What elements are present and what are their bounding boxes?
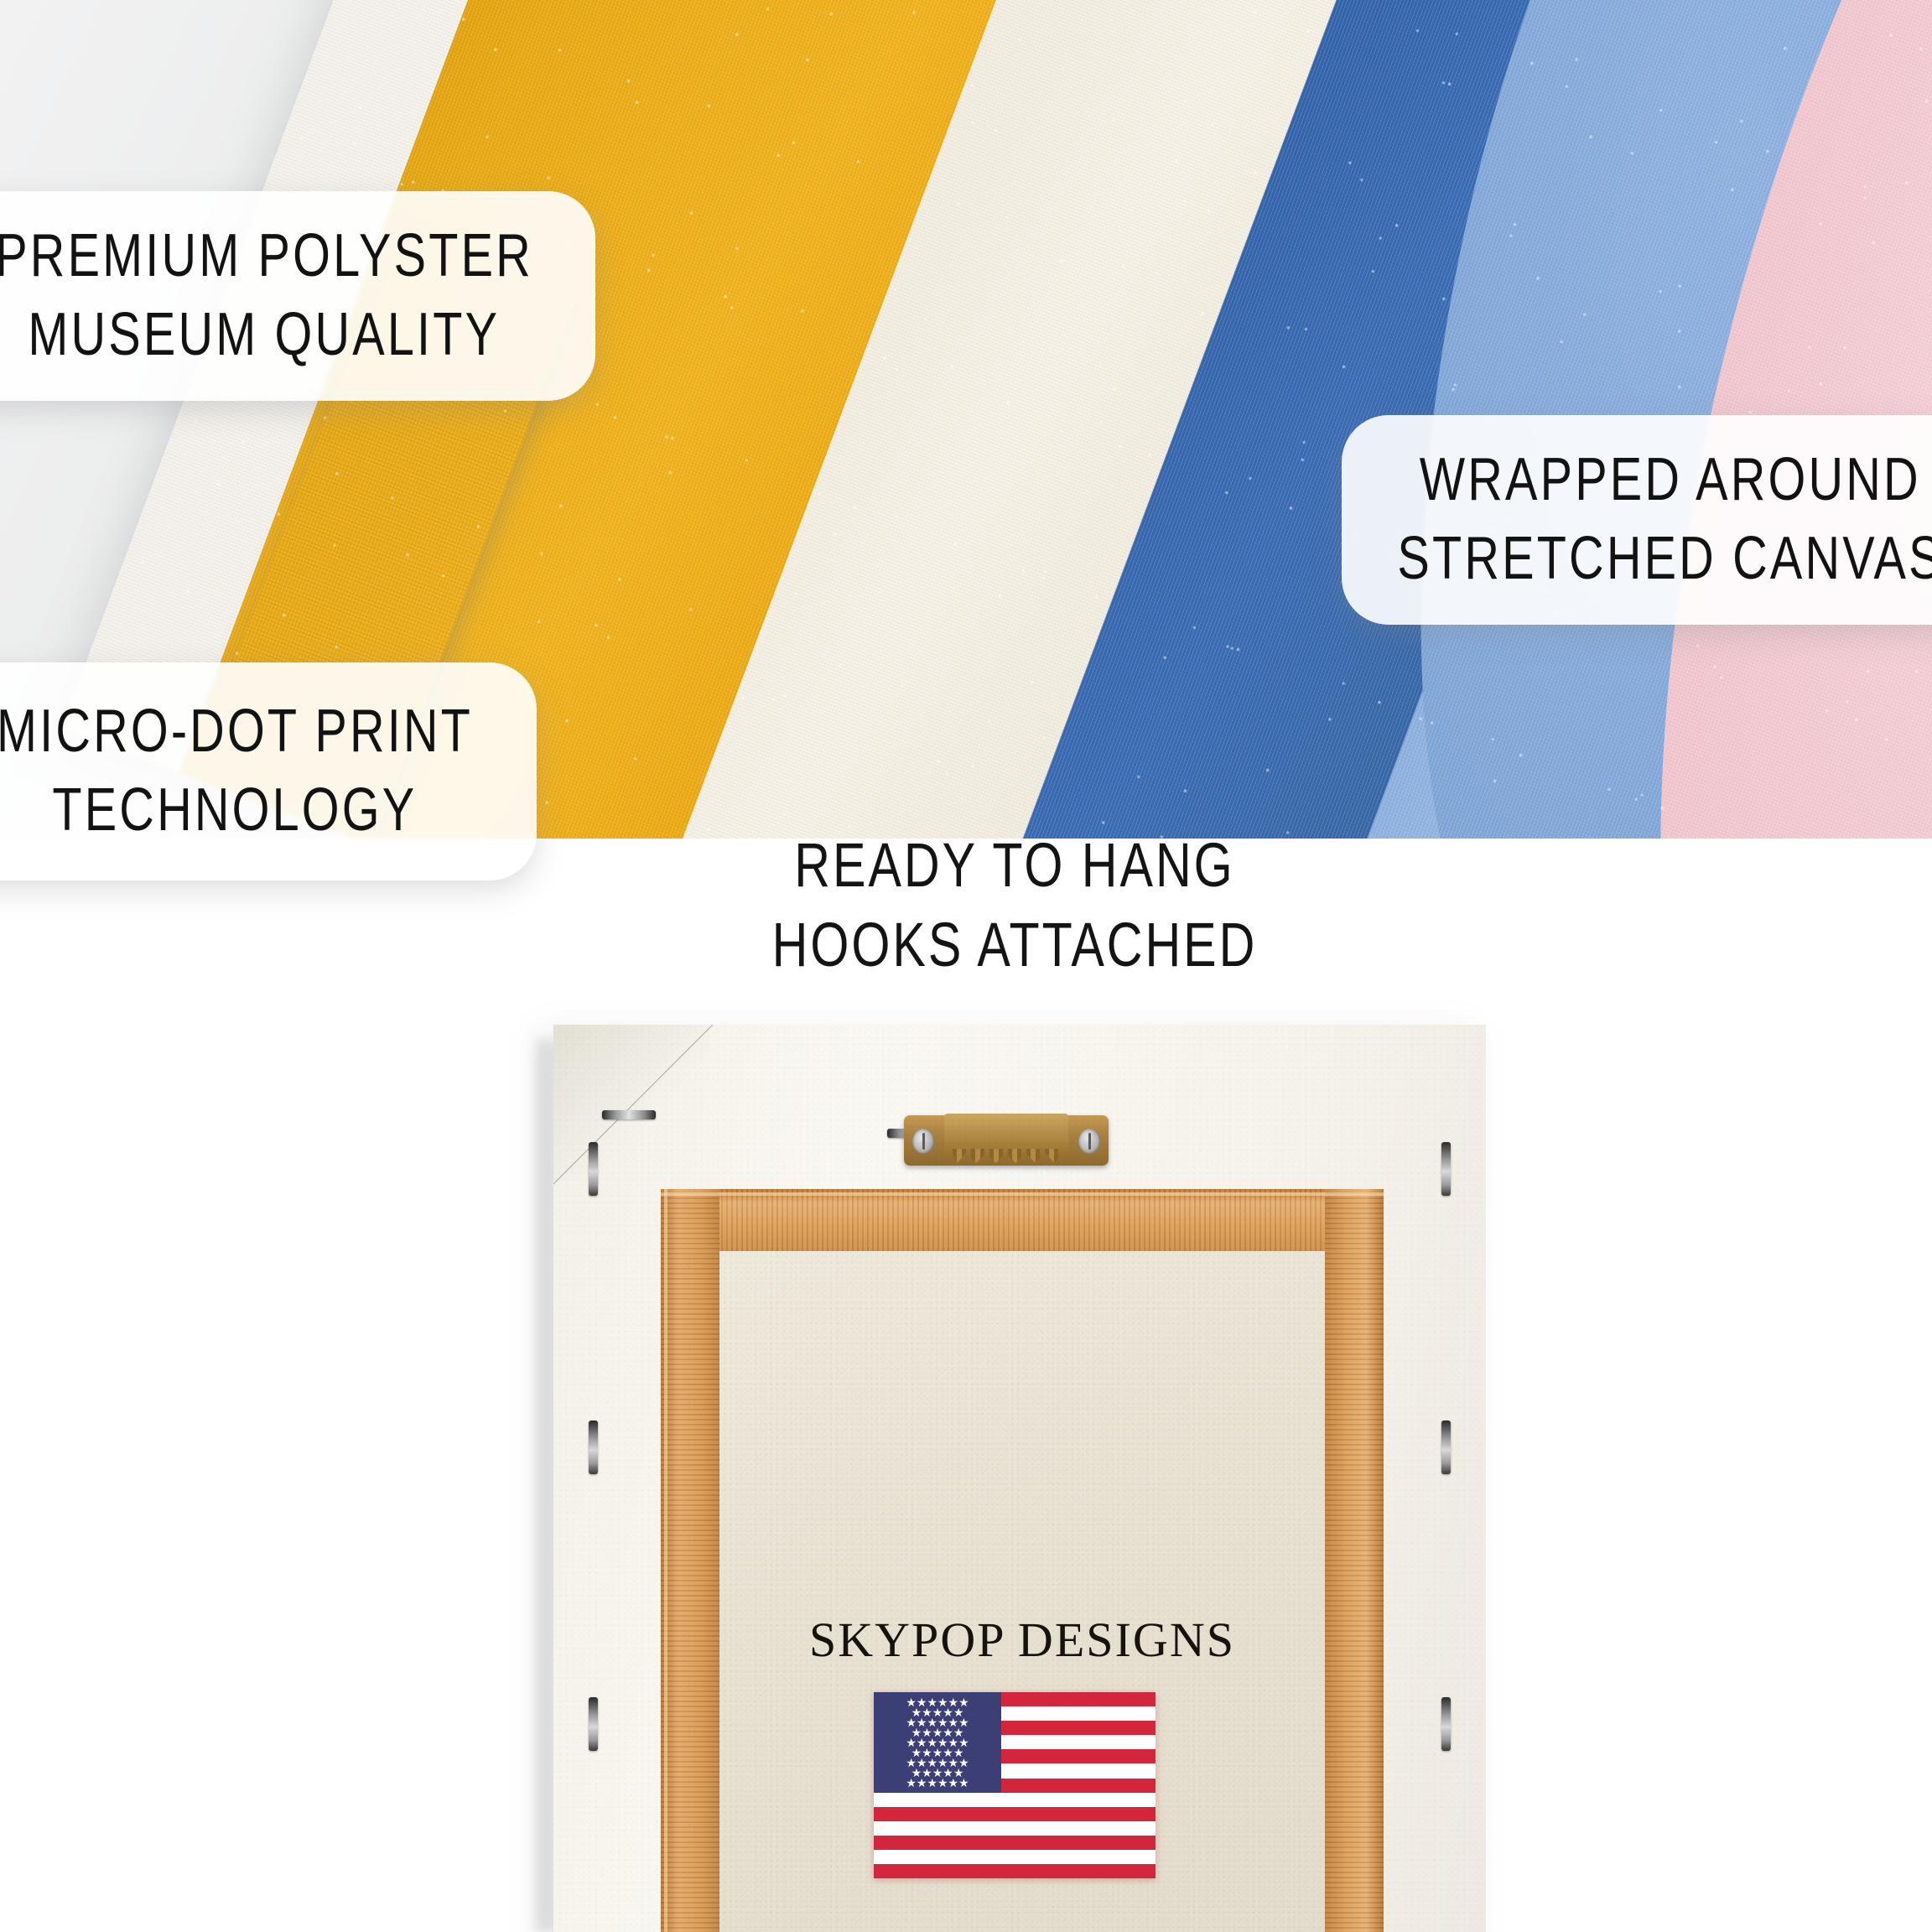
flag-stripe — [874, 1793, 1156, 1807]
flag-stripe — [874, 1807, 1156, 1821]
wood-highlight — [661, 1192, 1384, 1196]
staple — [1441, 1142, 1451, 1196]
feature-line-2: MUSEUM QUALITY — [29, 296, 501, 375]
feature-micro-dot-print: MICRO-DOT PRINT TECHNOLOGY — [0, 662, 537, 880]
stretcher-bar-left — [661, 1189, 719, 1932]
screw-icon — [912, 1129, 934, 1154]
product-infographic: PREMIUM POLYSTER MUSEUM QUALITY WRAPPED … — [0, 0, 1932, 1932]
flag-stripe — [874, 1836, 1156, 1850]
ready-to-hang-caption: READY TO HANG HOOKS ATTACHED — [637, 826, 1392, 984]
feature-line-1: MICRO-DOT PRINT — [0, 693, 473, 771]
american-flag-icon: ★★★★★★ ★★★★★ ★★★★★★ ★★★★★ ★★★★★★ ★★★★★ ★… — [874, 1692, 1156, 1878]
canvas-back-view: SKYPOP DESIGNS ★★★★★★ ★★★★★ ★★★★★★ ★★★★★… — [0, 964, 1932, 1932]
flag-stripe — [874, 1821, 1156, 1836]
staple — [1441, 1697, 1451, 1751]
flag-stripe — [874, 1850, 1156, 1864]
staple — [602, 1110, 656, 1119]
sawtooth-hanger-icon — [904, 1115, 1109, 1166]
staple — [589, 1420, 598, 1474]
corner-fold-line — [553, 1025, 713, 1184]
hang-caption-line-1: READY TO HANG — [713, 826, 1317, 906]
feature-wrapped-canvas: WRAPPED AROUND STRETCHED CANVAS — [1342, 415, 1932, 625]
wood-highlight — [664, 1189, 667, 1932]
feature-line-2: TECHNOLOGY — [53, 771, 418, 850]
flag-stripe — [874, 1864, 1156, 1878]
staple — [589, 1142, 598, 1196]
staple — [1441, 1420, 1451, 1474]
flag-star-row: ★★★★★★ — [874, 1777, 1001, 1789]
brand-label: SKYPOP DESIGNS — [661, 1612, 1384, 1668]
stretcher-bar-right — [1325, 1189, 1384, 1932]
flag-canton: ★★★★★★ ★★★★★ ★★★★★★ ★★★★★ ★★★★★★ ★★★★★ ★… — [874, 1692, 1001, 1793]
stretcher-bar-top — [661, 1189, 1384, 1251]
staple — [589, 1697, 598, 1751]
screw-icon — [1078, 1129, 1100, 1154]
feature-premium-polyster: PREMIUM POLYSTER MUSEUM QUALITY — [0, 191, 595, 401]
feature-line-1: WRAPPED AROUND — [1420, 441, 1921, 520]
feature-line-1: PREMIUM POLYSTER — [0, 217, 533, 296]
feature-line-2: STRETCHED CANVAS — [1397, 520, 1932, 599]
